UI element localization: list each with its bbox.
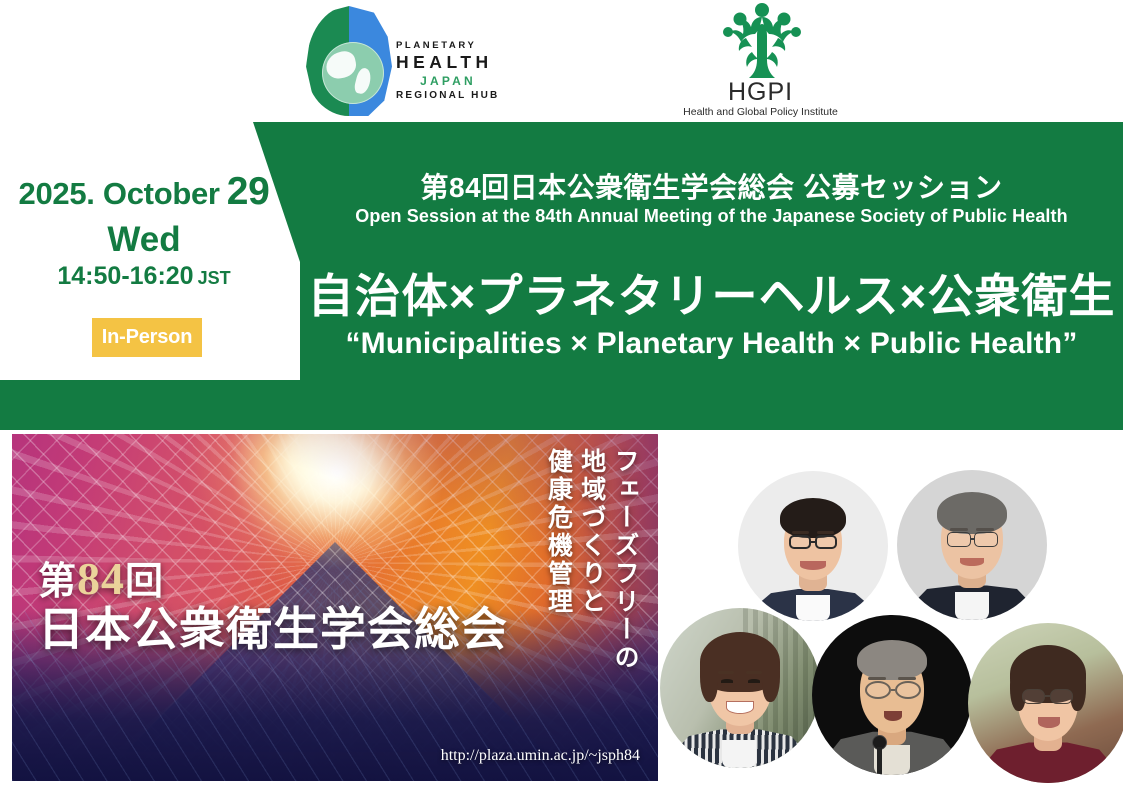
hair: [937, 492, 1007, 534]
theme-column-2: 地域づくりと: [576, 448, 607, 672]
glasses-right-lens: [1050, 689, 1073, 704]
session-heading-en: Open Session at the 84th Annual Meeting …: [300, 206, 1123, 227]
event-day: 29: [227, 170, 270, 213]
speaker-photo-1: [738, 471, 888, 621]
hgpi-full-name: Health and Global Policy Institute: [678, 106, 843, 118]
logo-line-regional-hub: REGIONAL HUB: [396, 90, 506, 102]
tree-icon: [716, 2, 808, 82]
eyebrow-left: [792, 531, 809, 534]
eye-right: [748, 679, 760, 683]
hair-side-right: [1070, 667, 1086, 711]
glasses-left-lens: [789, 535, 811, 549]
speaker-photo-2: [897, 470, 1047, 620]
hgpi-wordmark: HGPI: [678, 80, 843, 105]
event-time: 14:50-16:20: [57, 262, 193, 290]
speaker-photo-3: [660, 608, 820, 768]
session-title-en: “Municipalities × Planetary Health × Pub…: [300, 327, 1123, 361]
glasses-bridge: [1045, 695, 1050, 697]
theme-column-3: 健康危機管理: [542, 448, 573, 672]
speaker-photo-5: [968, 623, 1123, 783]
glasses-left-lens: [865, 681, 891, 699]
conference-poster-image: 第84回 日本公衆衛生学会総会 フェーズフリーの 地域づくりと 健康危機管理 2…: [12, 434, 658, 781]
hair: [780, 498, 846, 538]
event-year-month: 2025. October: [19, 176, 220, 211]
speaker-photo-4: [812, 615, 972, 775]
event-date-line: 2025. October29: [0, 170, 288, 214]
planetary-health-japan-wordmark: PLANETARY HEALTH JAPAN REGIONAL HUB: [396, 40, 506, 102]
glasses-right-lens: [895, 681, 921, 699]
event-banner: 2025. October29 Wed 14:50-16:20JST In-Pe…: [0, 122, 1123, 430]
hair-side-left: [700, 652, 718, 702]
conference-url: http://plaza.umin.ac.jp/~jsph84: [441, 747, 640, 765]
eyebrow-right: [817, 531, 834, 534]
glasses-bridge: [811, 541, 815, 543]
event-promo-poster: PLANETARY HEALTH JAPAN REGIONAL HUB: [0, 0, 1123, 794]
glasses-right-lens: [974, 532, 998, 547]
water-drop-icon: [306, 6, 392, 116]
format-badge: In-Person: [92, 318, 202, 357]
event-date-block: 2025. October29 Wed 14:50-16:20JST In-Pe…: [0, 122, 290, 380]
mouth: [960, 558, 984, 566]
event-timezone: JST: [198, 268, 231, 288]
eye-left: [721, 679, 733, 683]
shirt: [722, 740, 756, 768]
hgpi-logo: HGPI Health and Global Policy Institute: [678, 2, 843, 120]
theme-column-1: フェーズフリーの: [609, 448, 640, 672]
glasses-bridge: [891, 689, 895, 691]
event-day-of-week: Wed: [0, 220, 288, 260]
eyebrow-left: [950, 528, 968, 531]
glasses-left-lens: [1022, 689, 1045, 704]
globe-icon: [322, 42, 384, 104]
logo-line-health: HEALTH: [396, 52, 506, 72]
logo-line-japan: JAPAN: [396, 74, 500, 88]
mouth: [1038, 717, 1060, 728]
eyebrow-left: [868, 677, 886, 680]
glasses-left-lens: [947, 532, 971, 547]
event-time-line: 14:50-16:20JST: [0, 262, 288, 291]
eyebrow-right: [746, 671, 762, 674]
banner-text-block: 第84回日本公衆衛生学会総会 公募セッション Open Session at t…: [300, 122, 1123, 430]
mouth-smiling: [726, 701, 754, 714]
glasses-bridge: [971, 538, 974, 540]
conference-theme-vertical: フェーズフリーの 地域づくりと 健康危機管理: [12, 448, 640, 672]
mouth: [800, 561, 826, 570]
planetary-health-japan-logo: PLANETARY HEALTH JAPAN REGIONAL HUB: [300, 4, 500, 118]
session-heading-jp: 第84回日本公衆衛生学会総会 公募セッション: [300, 166, 1123, 206]
hair-side-left: [1010, 667, 1026, 711]
logo-bar: PLANETARY HEALTH JAPAN REGIONAL HUB: [0, 0, 1123, 122]
session-title-jp: 自治体×プラネタリーヘルス×公衆衛生: [300, 260, 1123, 326]
hair-side-right: [762, 652, 780, 702]
eyebrow-right: [976, 528, 994, 531]
logo-line-planetary: PLANETARY: [396, 40, 506, 51]
microphone-stem: [877, 747, 882, 775]
eyebrow-right: [898, 677, 916, 680]
mouth-speaking: [884, 711, 902, 721]
hair-grey: [857, 640, 927, 680]
eyebrow-left: [718, 671, 734, 674]
speaker-portraits: [660, 440, 1123, 794]
glasses-right-lens: [815, 535, 837, 549]
